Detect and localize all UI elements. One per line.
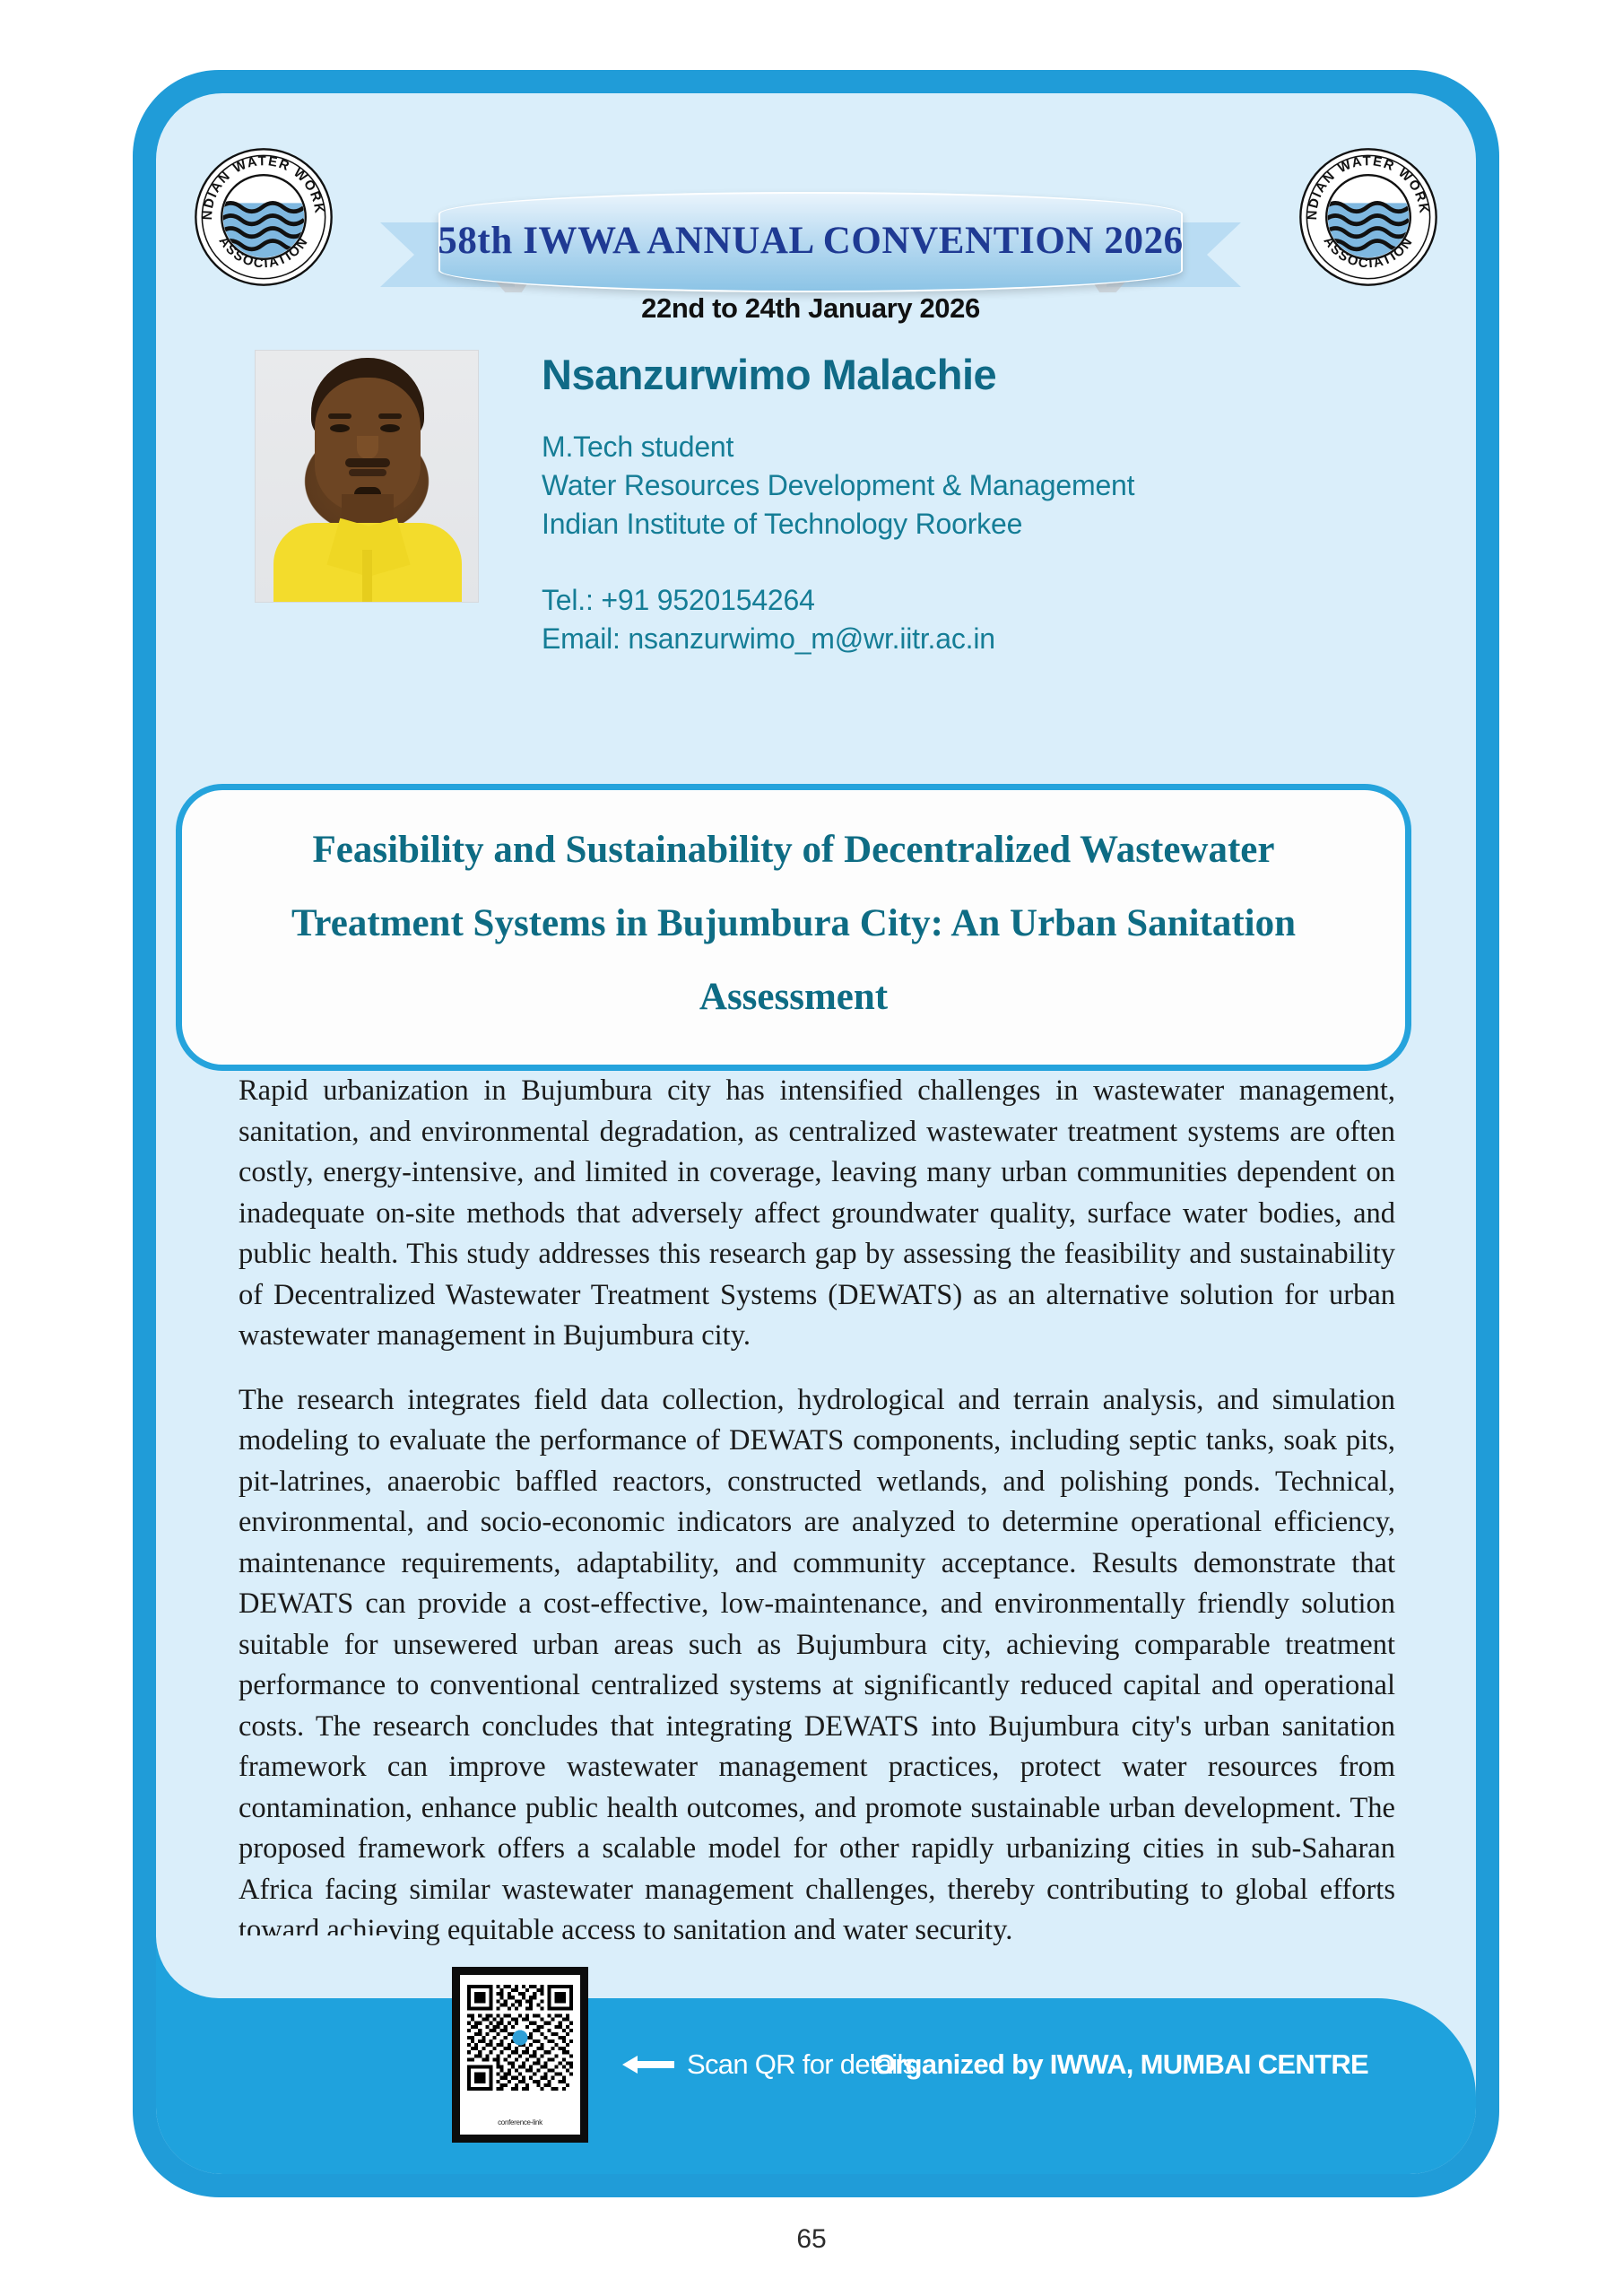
qr-code-card[interactable]: conference-link — [452, 1967, 588, 2143]
organizer-label: Organized by IWWA, MUMBAI CENTRE — [874, 2048, 1368, 2081]
iwwa-logo-icon: INDIAN WATER WORKS ASSOCIATION — [1298, 147, 1438, 287]
page-title: Feasibility and Sustainability of Decent… — [234, 813, 1353, 1034]
left-arrow-icon — [622, 2053, 674, 2076]
speaker-section: Nsanzurwimo Malachie M.Tech student Wate… — [156, 350, 1476, 744]
abstract-body: Rapid urbanization in Bujumbura city has… — [239, 1071, 1395, 1975]
convention-dates: 22nd to 24th January 2026 — [380, 292, 1241, 325]
speaker-institute: Indian Institute of Technology Roorkee — [542, 505, 1420, 544]
convention-title: 58th IWWA ANNUAL CONVENTION 2026 — [438, 219, 1184, 263]
poster-outer-frame: INDIAN WATER WORKS ASSOCIATION — [133, 70, 1499, 2197]
speaker-details: Nsanzurwimo Malachie M.Tech student Wate… — [542, 350, 1420, 658]
footer-blue-bar — [156, 1998, 1476, 2174]
convention-banner: 58th IWWA ANNUAL CONVENTION 2026 22nd to… — [380, 192, 1241, 317]
speaker-email: Email: nsanzurwimo_m@wr.iitr.ac.in — [542, 620, 1420, 658]
abstract-paragraph: The research integrates field data colle… — [239, 1380, 1395, 1952]
page-number: 65 — [0, 2224, 1623, 2255]
speaker-department: Water Resources Development & Management — [542, 466, 1420, 505]
footer-notch-decoration — [156, 1935, 389, 1998]
speaker-telephone: Tel.: +91 9520154264 — [542, 581, 1420, 620]
paper-title-box: Feasibility and Sustainability of Decent… — [176, 784, 1411, 1071]
speaker-role: M.Tech student — [542, 428, 1420, 466]
scan-qr-hint: Scan QR for details — [622, 2048, 916, 2081]
abstract-paragraph: Rapid urbanization in Bujumbura city has… — [239, 1071, 1395, 1357]
iwwa-logo-icon: INDIAN WATER WORKS ASSOCIATION — [194, 147, 334, 287]
footer-band: conference-link Scan QR for details Orga… — [156, 1952, 1476, 2174]
ribbon-center-plate: 58th IWWA ANNUAL CONVENTION 2026 — [438, 192, 1183, 292]
speaker-portrait-photo — [255, 350, 479, 603]
qr-code-caption: conference-link — [498, 2118, 542, 2126]
qr-code-icon[interactable] — [467, 1985, 573, 2091]
speaker-name: Nsanzurwimo Malachie — [542, 350, 1420, 399]
poster-inner-panel: INDIAN WATER WORKS ASSOCIATION — [156, 93, 1476, 2174]
